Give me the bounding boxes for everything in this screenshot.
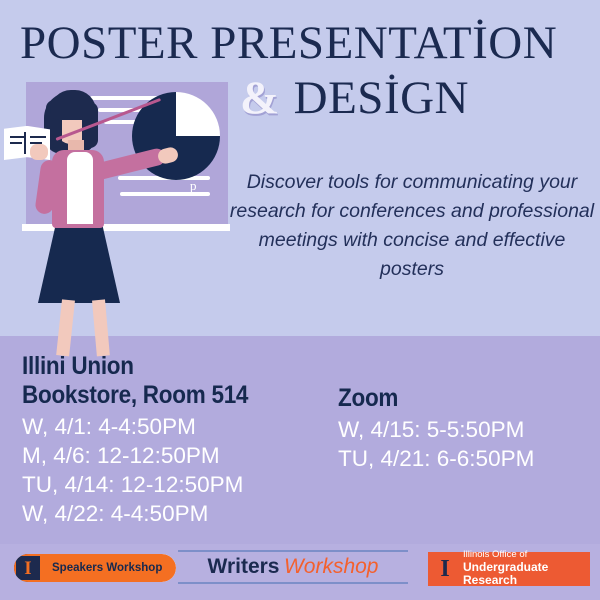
schedule-column-zoom: Zoom W, 4/15: 5-5:50PM TU, 4/21: 6-6:50P… bbox=[338, 384, 588, 473]
board-text-line bbox=[120, 192, 210, 196]
presenter-shirt bbox=[67, 152, 93, 224]
session-time: TU, 4/21: 6-6:50PM bbox=[338, 444, 588, 473]
uor-line-2: Undergraduate Research bbox=[463, 561, 590, 589]
logo-undergraduate-research[interactable]: I Illinois Office of Undergraduate Resea… bbox=[428, 552, 590, 586]
illinois-block-i-icon: I bbox=[14, 554, 42, 582]
speakers-workshop-pill: I Speakers Workshop bbox=[14, 554, 176, 582]
paper-fold-line bbox=[24, 132, 26, 154]
presenter-hair-front bbox=[50, 90, 96, 120]
session-time: W, 4/1: 4-4:50PM bbox=[22, 412, 342, 441]
location-heading-line-1: Illini Union bbox=[22, 352, 310, 381]
session-time: M, 4/6: 12-12:50PM bbox=[22, 441, 342, 470]
logo-speakers-workshop[interactable]: I Speakers Workshop bbox=[14, 554, 176, 582]
presenter-left-hand bbox=[30, 144, 48, 160]
paper-text-line bbox=[10, 142, 22, 144]
board-glyph: d bbox=[190, 180, 197, 196]
session-time: W, 4/15: 5-5:50PM bbox=[338, 415, 588, 444]
writers-workshop-word-1: Writers bbox=[208, 555, 280, 578]
page-title-line-2: &DESİGN bbox=[240, 72, 600, 124]
session-time: W, 4/22: 4-4:50PM bbox=[22, 499, 342, 528]
illustration-presenter: ρ d bbox=[0, 60, 240, 340]
block-i-glyph: I bbox=[440, 557, 449, 581]
schedule-column-in-person: Illini Union Bookstore, Room 514 W, 4/1:… bbox=[22, 352, 342, 528]
poster-canvas: POSTER PRESENTATİON &DESİGN Discover too… bbox=[0, 0, 600, 600]
writers-workshop-word-2: Workshop bbox=[284, 555, 379, 578]
ampersand-glyph: & bbox=[240, 72, 280, 124]
session-time-list: W, 4/1: 4-4:50PM M, 4/6: 12-12:50PM TU, … bbox=[22, 412, 342, 528]
location-heading-line-2: Bookstore, Room 514 bbox=[22, 381, 310, 410]
page-title-design-word: DESİGN bbox=[294, 72, 469, 124]
paper-text-line bbox=[30, 136, 46, 138]
description-text: Discover tools for communicating your re… bbox=[228, 168, 596, 284]
undergraduate-research-text: Illinois Office of Undergraduate Researc… bbox=[456, 550, 590, 589]
session-time: TU, 4/14: 12-12:50PM bbox=[22, 470, 342, 499]
board-text-line bbox=[90, 96, 158, 100]
location-heading-line-1: Zoom bbox=[338, 384, 563, 413]
block-i-glyph: I bbox=[24, 559, 31, 578]
logo-writers-workshop[interactable]: Writers Workshop bbox=[178, 550, 408, 584]
illinois-block-i-icon: I bbox=[434, 556, 456, 582]
session-time-list: W, 4/15: 5-5:50PM TU, 4/21: 6-6:50PM bbox=[338, 415, 588, 473]
speakers-workshop-label: Speakers Workshop bbox=[42, 562, 176, 574]
presenter-skirt bbox=[38, 223, 120, 303]
